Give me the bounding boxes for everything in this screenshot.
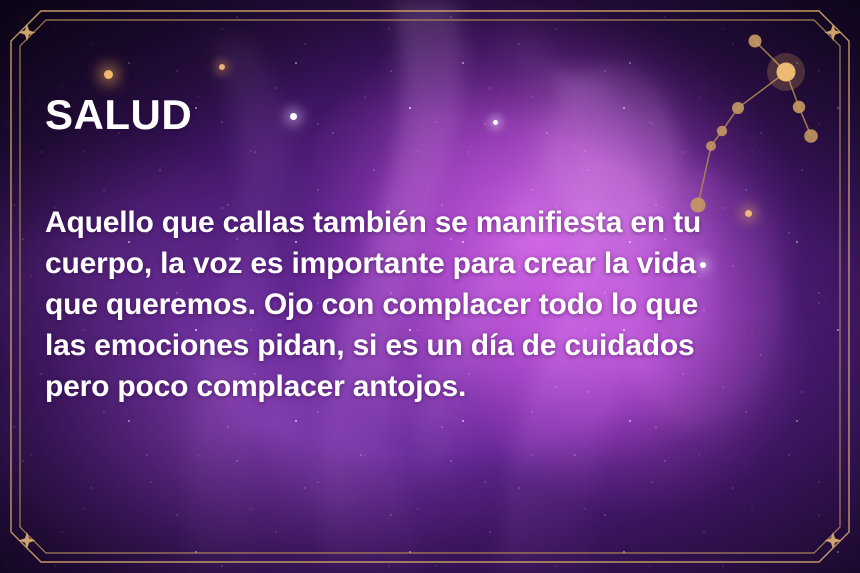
sparkle-icon-top-right — [825, 24, 842, 41]
page-title: SALUD — [45, 94, 192, 136]
sparkle-icon-bottom-right — [825, 532, 842, 549]
horoscope-body: Aquello que callas también se manifiesta… — [45, 202, 800, 407]
body-line: pero poco complacer antojos. — [45, 366, 800, 407]
body-line: cuerpo, la voz es importante para crear … — [45, 243, 800, 284]
horoscope-card: SALUD Aquello que callas también se mani… — [0, 0, 860, 573]
body-line: que queremos. Ojo con complacer todo lo … — [45, 284, 800, 325]
body-line: las emociones pidan, si es un día de cui… — [45, 325, 800, 366]
body-line: Aquello que callas también se manifiesta… — [45, 202, 800, 243]
card-content: SALUD Aquello que callas también se mani… — [45, 0, 805, 573]
sparkle-icon-top-left — [19, 24, 36, 41]
sparkle-icon-bottom-left — [19, 532, 36, 549]
